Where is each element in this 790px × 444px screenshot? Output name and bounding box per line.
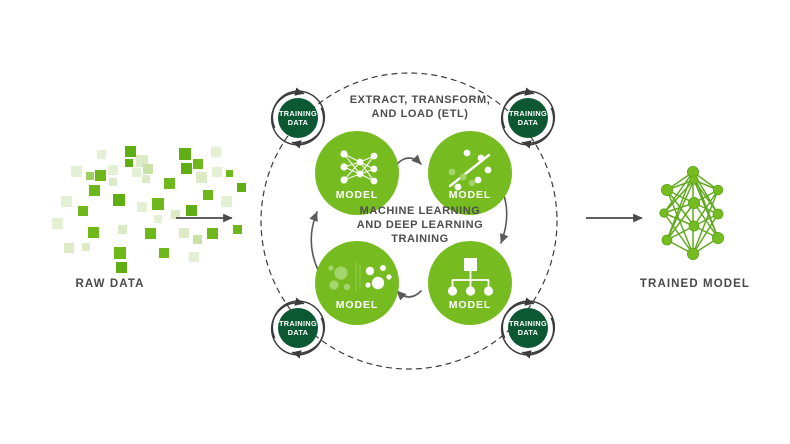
raw-data-square <box>196 172 207 183</box>
raw-data-square <box>125 159 133 167</box>
raw-data-square <box>118 225 127 234</box>
training-data-label-line1: TRAINING <box>279 109 317 118</box>
raw-data-square <box>221 196 232 207</box>
training-data-label-line1: TRAINING <box>509 319 547 328</box>
model-circle-top-left[interactable]: MODEL <box>315 131 399 215</box>
raw-data-square <box>78 206 88 216</box>
raw-data-squares-icon <box>52 146 246 273</box>
training-data-label-line2: DATA <box>518 118 539 127</box>
raw-data-square <box>86 172 94 180</box>
training-data-node-bottom-left[interactable]: TRAINING DATA <box>278 308 318 348</box>
raw-data-square <box>159 248 169 258</box>
raw-data-square <box>132 168 141 177</box>
raw-data-square <box>212 167 222 177</box>
training-data-label-line2: DATA <box>288 328 309 337</box>
raw-data-square <box>114 247 126 259</box>
model-label-bottom-left: MODEL <box>336 299 378 311</box>
trained-model-label: TRAINED MODEL <box>585 278 790 290</box>
raw-data-square <box>193 235 202 244</box>
raw-data-square <box>203 190 213 200</box>
raw-data-square <box>142 175 150 183</box>
training-data-node-top-right[interactable]: TRAINING DATA <box>508 98 548 138</box>
raw-data-square <box>193 159 203 169</box>
raw-data-square <box>71 166 82 177</box>
raw-data-square <box>82 243 90 251</box>
diagram-canvas: MODEL MODEL <box>0 0 790 444</box>
raw-data-square <box>211 147 221 157</box>
raw-data-label: RAW DATA <box>0 278 220 290</box>
raw-data-square <box>64 243 74 253</box>
etl-stage-label: EXTRACT, TRANSFORM, AND LOAD (ETL) <box>330 93 510 121</box>
raw-data-square <box>108 165 118 175</box>
raw-data-square <box>226 170 233 177</box>
raw-data-square <box>109 178 117 186</box>
trained-model-neural-network-icon <box>660 166 724 259</box>
model-label-bottom-right: MODEL <box>449 299 491 311</box>
raw-data-square <box>137 202 147 212</box>
raw-data-square <box>154 215 162 223</box>
raw-data-square <box>152 198 164 210</box>
raw-data-square <box>164 178 175 189</box>
training-data-label-line1: TRAINING <box>509 109 547 118</box>
raw-data-square <box>179 148 191 160</box>
raw-data-square <box>113 194 125 206</box>
raw-data-square <box>116 262 127 273</box>
raw-data-square <box>97 150 106 159</box>
raw-data-square <box>233 225 242 234</box>
raw-data-square <box>89 185 100 196</box>
model-label-top-right: MODEL <box>449 189 491 201</box>
raw-data-square <box>95 170 106 181</box>
raw-data-square <box>181 163 192 174</box>
raw-data-square <box>143 164 153 174</box>
raw-data-square <box>61 196 72 207</box>
raw-data-square <box>125 146 136 157</box>
raw-data-square <box>207 228 218 239</box>
training-data-node-top-left[interactable]: TRAINING DATA <box>278 98 318 138</box>
raw-data-square <box>189 252 199 262</box>
raw-data-square <box>145 228 156 239</box>
raw-data-square <box>237 183 246 192</box>
training-stage-label: MACHINE LEARNING AND DEEP LEARNING TRAIN… <box>335 204 505 246</box>
model-circle-bottom-left[interactable]: MODEL <box>315 241 399 325</box>
raw-data-square <box>179 228 189 238</box>
raw-data-square <box>52 218 63 229</box>
training-data-label-line1: TRAINING <box>279 319 317 328</box>
raw-data-square <box>88 227 99 238</box>
training-data-label-line2: DATA <box>518 328 539 337</box>
model-label-top-left: MODEL <box>336 189 378 201</box>
training-data-node-bottom-right[interactable]: TRAINING DATA <box>508 308 548 348</box>
training-data-label-line2: DATA <box>288 118 309 127</box>
model-circle-bottom-right[interactable]: MODEL <box>428 241 512 325</box>
model-circle-top-right[interactable]: MODEL <box>428 131 512 215</box>
raw-data-square <box>186 205 197 216</box>
